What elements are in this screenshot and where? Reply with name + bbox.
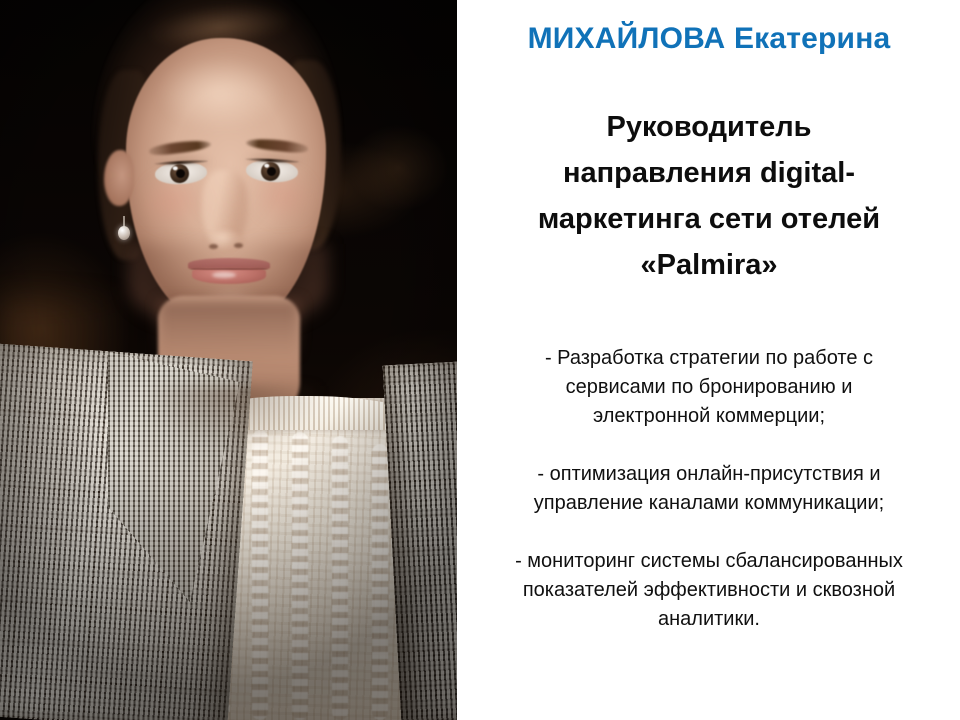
duty-line: - оптимизация онлайн-присутствия и	[471, 460, 947, 489]
speaker-name-title: МИХАЙЛОВА Екатерина	[469, 22, 949, 56]
duty-line: показателей эффективности и сквозной	[471, 576, 947, 605]
role-line: направления digital-	[481, 150, 937, 196]
duty-line: электронной коммерции;	[471, 402, 947, 431]
speaker-role: Руководитель направления digital- маркет…	[481, 104, 937, 288]
role-line: маркетинга сети отелей	[481, 196, 937, 242]
duty-line: управление каналами коммуникации;	[471, 489, 947, 518]
duty-item: - Разработка стратегии по работе с серви…	[471, 344, 947, 431]
presentation-slide: МИХАЙЛОВА Екатерина Руководитель направл…	[0, 0, 960, 720]
duty-spacer	[471, 431, 947, 460]
duty-item: - мониторинг системы сбалансированных по…	[471, 547, 947, 634]
shoulder-shadow	[150, 386, 320, 446]
duty-line: - мониторинг системы сбалансированных	[471, 547, 947, 576]
speaker-duties-list: - Разработка стратегии по работе с серви…	[471, 344, 947, 634]
role-line: «Palmira»	[481, 242, 937, 288]
duty-item: - оптимизация онлайн-присутствия и управ…	[471, 460, 947, 518]
left-ear	[104, 150, 134, 206]
speaker-portrait-photo	[0, 0, 457, 720]
duty-line: - Разработка стратегии по работе с	[471, 344, 947, 373]
neck-shadow	[158, 300, 300, 360]
forehead-highlight	[160, 58, 280, 130]
pearl-earring	[118, 226, 130, 240]
duty-spacer	[471, 518, 947, 547]
speaker-info-panel: МИХАЙЛОВА Екатерина Руководитель направл…	[457, 0, 960, 720]
duty-line: сервисами по бронированию и	[471, 373, 947, 402]
duty-line: аналитики.	[471, 605, 947, 634]
role-line: Руководитель	[481, 104, 937, 150]
